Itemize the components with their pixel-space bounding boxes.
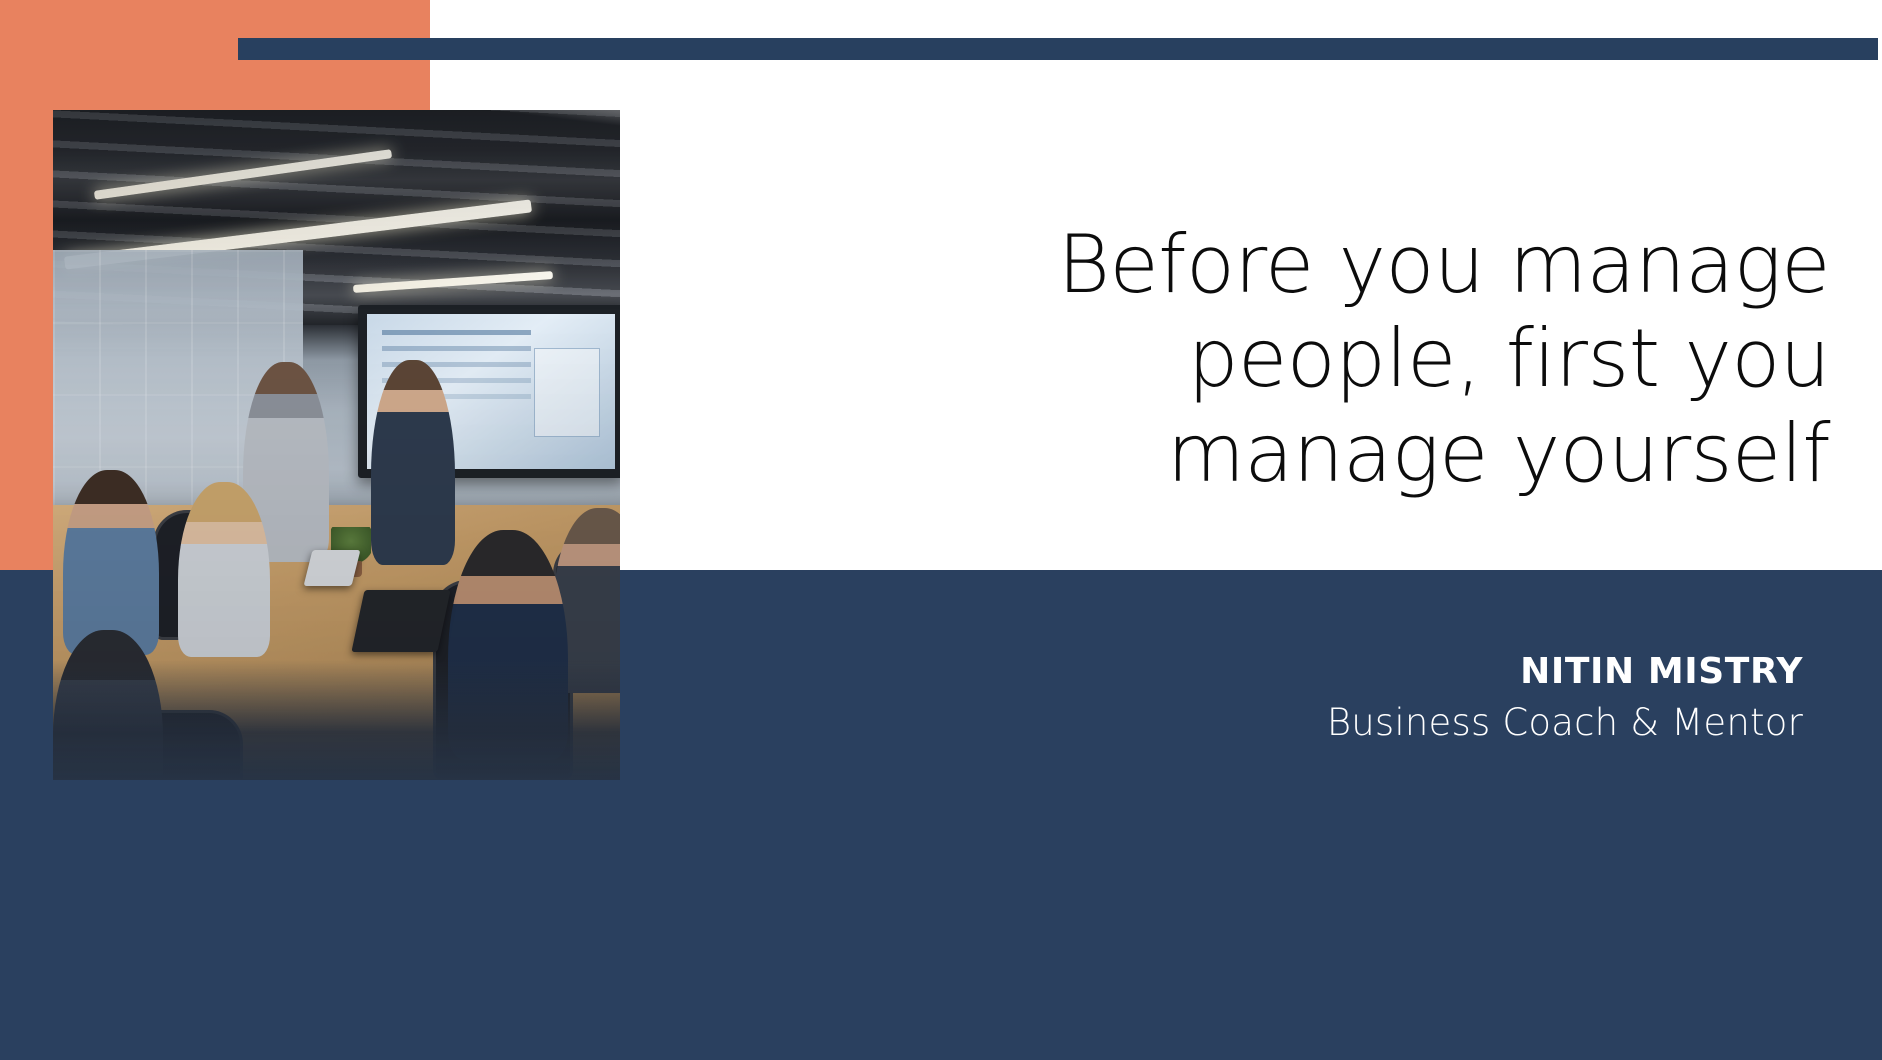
quote-text: Before you manage people, first you mana… (700, 218, 1830, 501)
meeting-photo (53, 110, 620, 780)
seated-attendee (63, 470, 159, 655)
laptop-device (351, 590, 450, 652)
credit-block: NITIN MISTRY Business Coach & Mentor (1327, 652, 1803, 744)
floor-carpet (53, 660, 620, 780)
photo-image (53, 110, 620, 780)
standing-presenter (371, 360, 455, 565)
tablet-device (304, 550, 361, 586)
author-name: NITIN MISTRY (1327, 652, 1803, 692)
navy-accent-rule (238, 38, 1878, 60)
seated-attendee (178, 482, 270, 657)
author-role: Business Coach & Mentor (1327, 702, 1803, 745)
quote-slide: Before you manage people, first you mana… (0, 0, 1882, 1060)
